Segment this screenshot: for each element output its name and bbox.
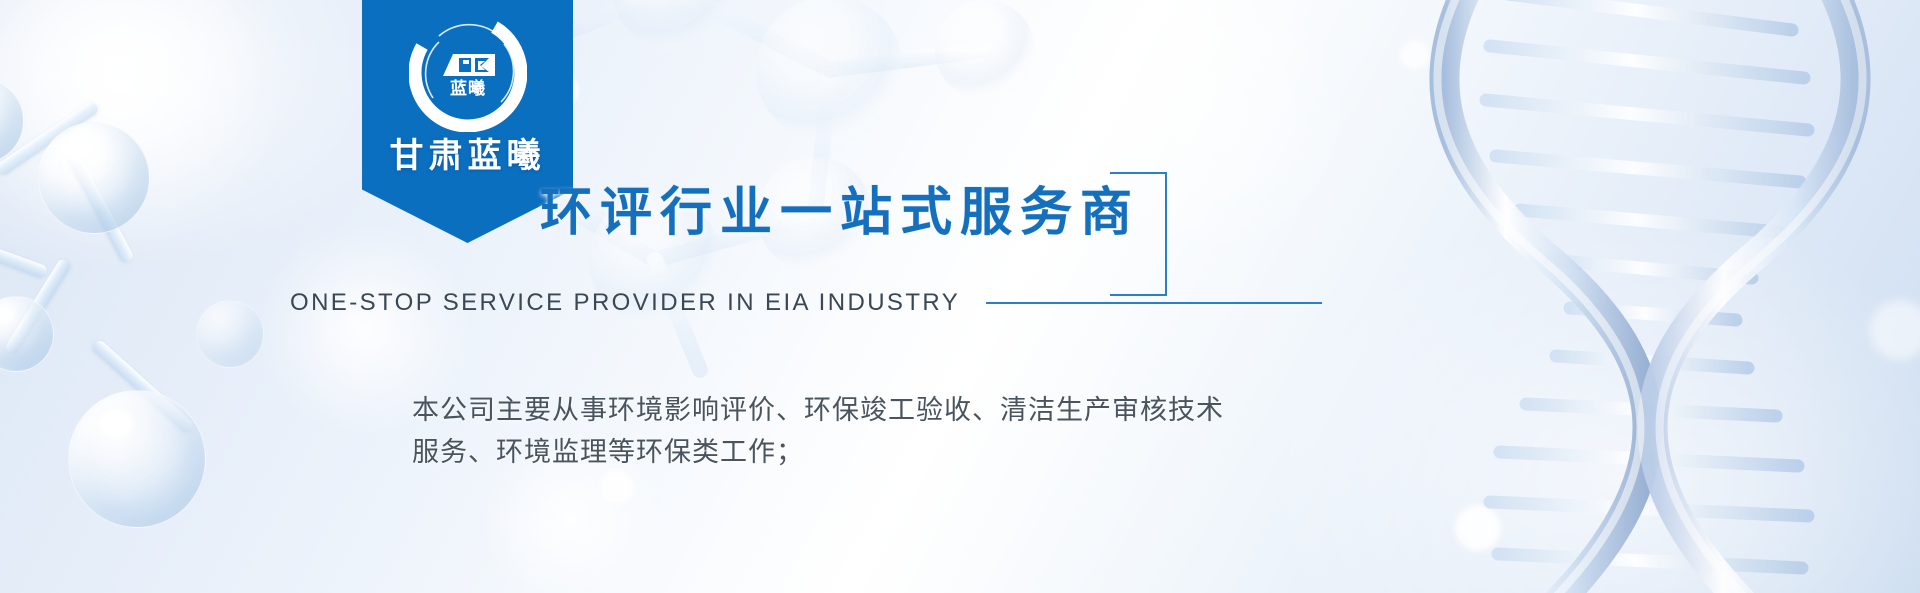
hero-banner: 蓝曦 甘肃蓝曦 环评行业一站式服务商 ONE-STOP SERVICE PROV… [0,0,1920,593]
mol-node [68,390,206,528]
mol-node [196,300,264,368]
logo-inner-text: 蓝曦 [450,78,486,98]
subtitle-english: ONE-STOP SERVICE PROVIDER IN EIA INDUSTR… [290,289,960,317]
mol-node [0,296,54,372]
description-paragraph: 本公司主要从事环境影响评价、环保竣工验收、清洁生产审核技术 服务、环境监理等环保… [412,390,1224,474]
mol-node [38,122,150,234]
description-line-1: 本公司主要从事环境影响评价、环保竣工验收、清洁生产审核技术 [412,390,1224,432]
subtitle-row: ONE-STOP SERVICE PROVIDER IN EIA INDUSTR… [290,289,1322,317]
bokeh-dot-2 [600,470,634,504]
lanxi-circle-logo-icon: 蓝曦 [409,14,527,132]
subtitle-rule [986,302,1322,304]
description-line-2: 服务、环境监理等环保类工作； [412,432,1224,474]
mol-bond [0,226,49,279]
page-title: 环评行业一站式服务商 [540,170,1140,245]
dna-helix-illustration [1400,0,1920,593]
decorative-bracket [1110,172,1167,296]
